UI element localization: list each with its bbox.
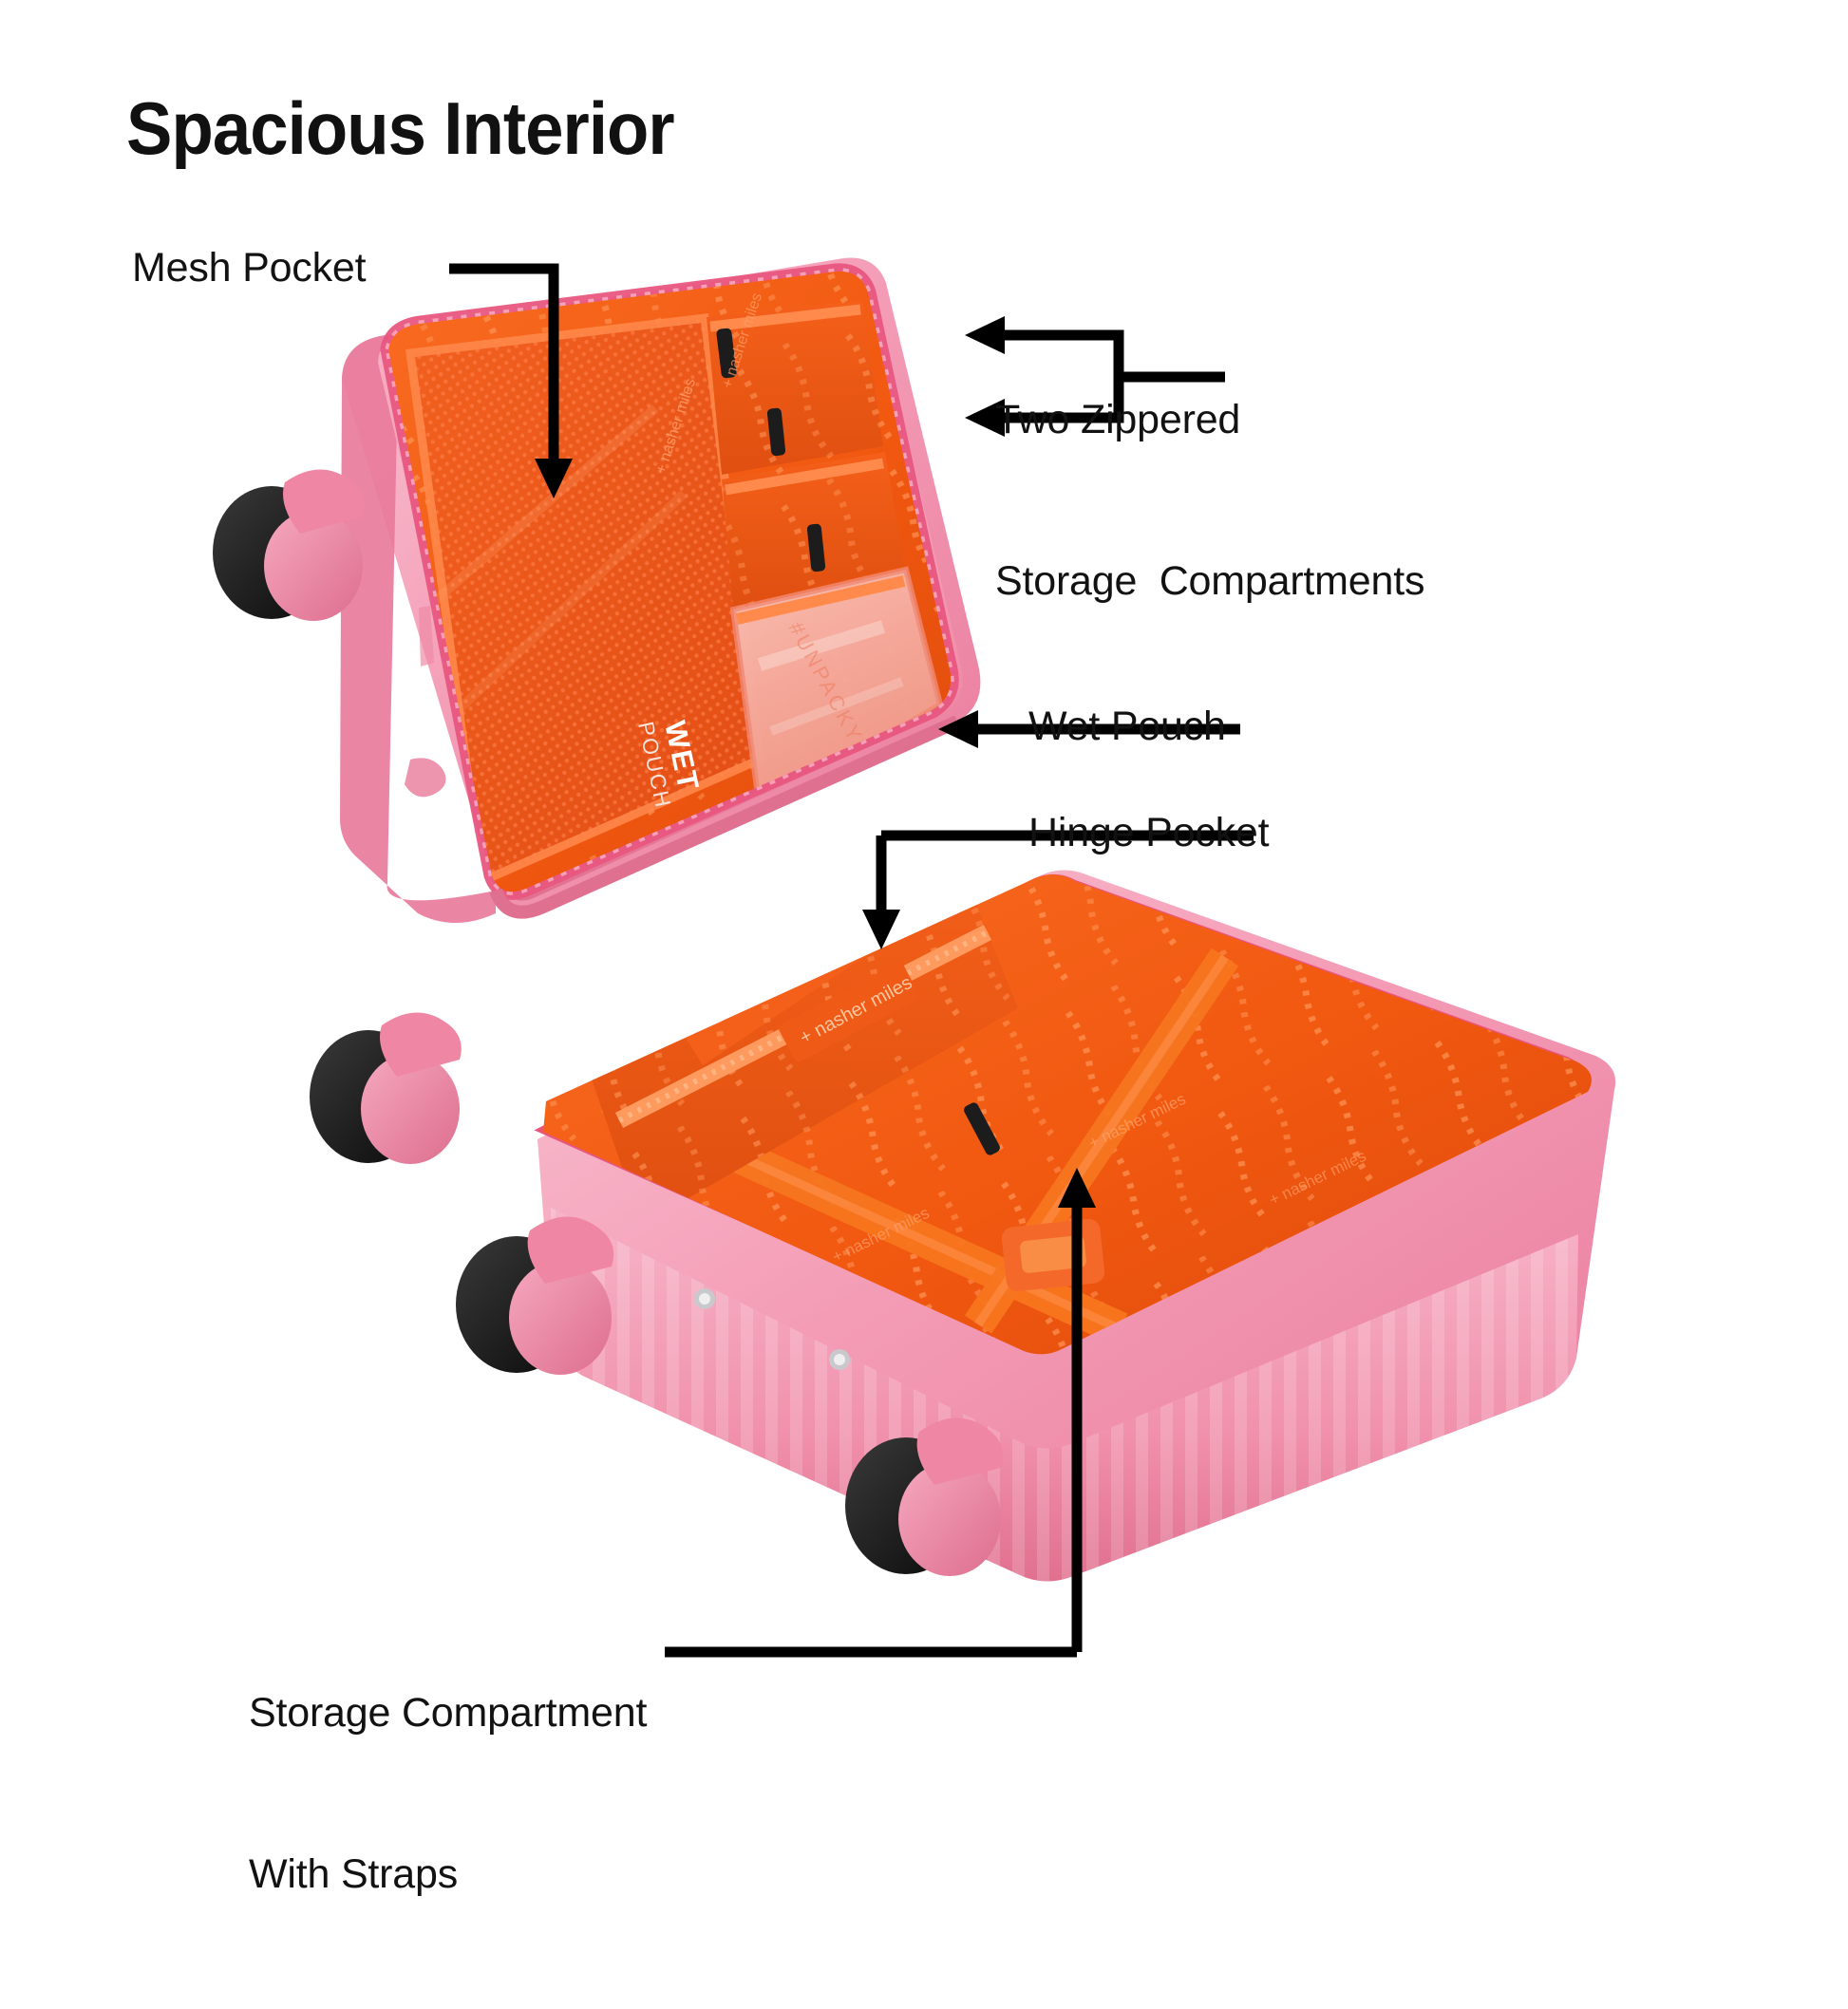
lid-wheel-top <box>213 469 365 621</box>
strap-buckle <box>1001 1218 1106 1292</box>
callout-two-zippered-line2: Storage Compartments <box>995 554 1424 609</box>
callout-hinge-pocket: Hinge Pocket <box>1028 807 1269 859</box>
callout-storage-straps-line1: Storage Compartment <box>249 1686 647 1740</box>
suitcase-lid: #UNPACKYOU + nasher miles + nasher miles… <box>340 256 988 923</box>
lid-wheel-bottom <box>310 1012 462 1164</box>
callout-two-zippered-line1: Two Zippered <box>995 393 1424 447</box>
callout-two-zippered: Two Zippered Storage Compartments <box>995 285 1424 716</box>
base-wheel-left <box>456 1216 613 1375</box>
suitcase-base: + nasher miles + nasher miles + nasher m… <box>513 777 1633 1582</box>
callout-mesh-pocket: Mesh Pocket <box>132 242 366 294</box>
callout-storage-straps: Storage Compartment With Straps <box>249 1578 647 2009</box>
callout-wet-pouch: Wet Pouch <box>1028 701 1226 753</box>
infographic-canvas: Spacious Interior <box>0 0 1848 1848</box>
callout-storage-straps-line2: With Straps <box>249 1848 647 1902</box>
